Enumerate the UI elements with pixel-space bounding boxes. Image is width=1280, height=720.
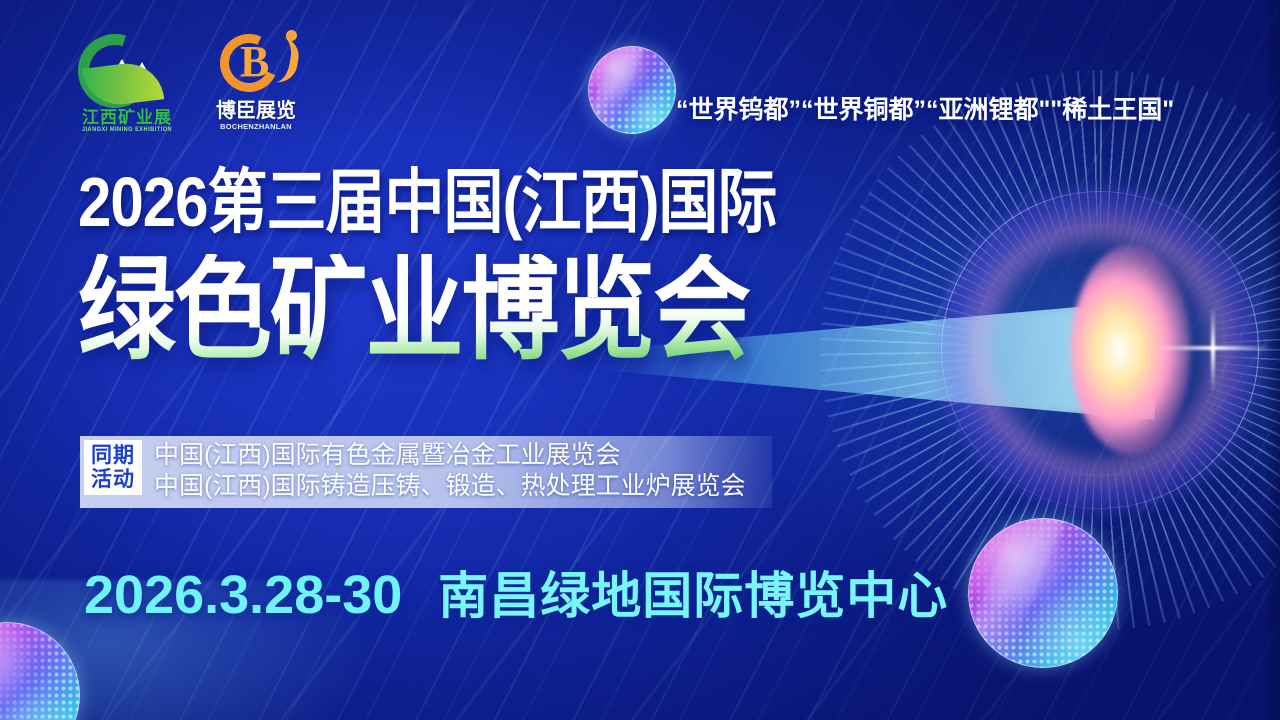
logo-jiangxi-mining-exhibition[interactable]: 江西矿业展 JIANGXI MINING EXHIBITION — [72, 32, 182, 140]
logo-jiangxi-mining-en-text: JIANGXI MINING EXHIBITION — [72, 126, 182, 133]
halftone-sphere-bottom-right — [968, 518, 1118, 668]
sparkle-vertical — [1211, 306, 1215, 392]
orange-swoosh-icon — [274, 37, 302, 86]
concurrent-event-item: 中国(江西)国际有色金属暨冶金工业展览会 — [154, 440, 746, 471]
sphere-rim — [968, 518, 1118, 668]
concurrent-event-item: 中国(江西)国际铸造压铸、锻造、热处理工业炉展览会 — [154, 471, 746, 502]
date-venue-line: 2026.3.28-30 南昌绿地国际博览中心 — [84, 556, 948, 628]
event-venue: 南昌绿地国际博览中心 — [438, 556, 948, 628]
right-edge-shade — [1264, 0, 1280, 720]
resource-slogan: “世界钨都”“世界铜都”“亚洲锂都""稀土王国" — [676, 90, 1276, 126]
logo-group: 江西矿业展 JIANGXI MINING EXHIBITION B 博臣展览 B… — [72, 32, 308, 140]
mining-emblem-icon — [72, 32, 182, 108]
headline-line-1: 2026第三届中国(江西)国际 — [78, 168, 776, 238]
halftone-sphere-top — [588, 46, 676, 134]
logo-bochen-en-text: BOCHENZHANLAN — [204, 122, 308, 131]
concurrent-badge-line-2: 活动 — [91, 468, 135, 492]
concurrent-events-list: 中国(江西)国际有色金属暨冶金工业展览会 中国(江西)国际铸造压铸、锻造、热处理… — [154, 440, 746, 503]
orange-dot-icon — [286, 30, 297, 41]
sphere-rim — [588, 46, 676, 134]
ring-core-glow — [1071, 245, 1191, 455]
logo-bochen-exhibition[interactable]: B 博臣展览 BOCHENZHANLAN — [204, 32, 308, 140]
glowing-portal-ring-graphic — [905, 150, 1280, 550]
concurrent-badge: 同期 活动 — [84, 440, 142, 495]
promo-banner: 江西矿业展 JIANGXI MINING EXHIBITION B 博臣展览 B… — [0, 0, 1280, 720]
logo-jiangxi-mining-cn-text: 江西矿业展 — [72, 109, 182, 127]
concurrent-events-panel: 同期 活动 中国(江西)国际有色金属暨冶金工业展览会 中国(江西)国际铸造压铸、… — [80, 436, 772, 508]
letter-b-mark-icon: B — [240, 40, 269, 84]
logo-bochen-cn-text: 博臣展览 — [204, 100, 308, 122]
bochen-emblem-icon: B — [204, 32, 308, 100]
event-date: 2026.3.28-30 — [84, 564, 402, 626]
headline-block: 2026第三届中国(江西)国际 绿色矿业博览会 — [78, 168, 776, 350]
headline-line-2: 绿色矿业博览会 — [78, 254, 790, 367]
concurrent-badge-line-1: 同期 — [91, 444, 135, 468]
